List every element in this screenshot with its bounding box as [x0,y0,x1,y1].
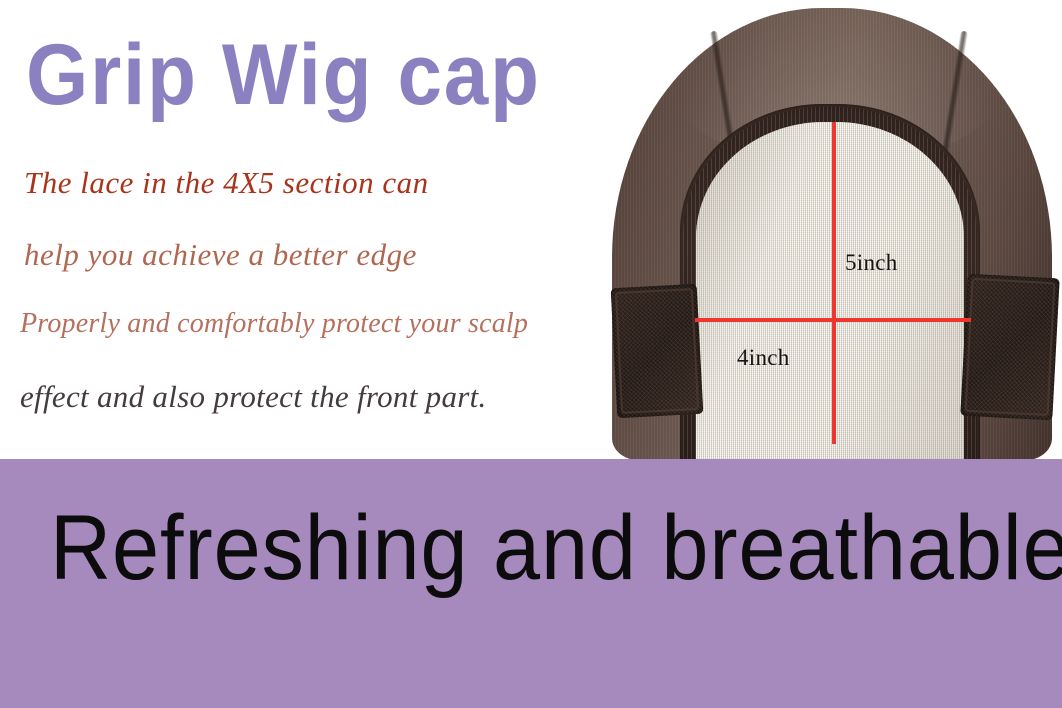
page-title: Grip Wig cap [26,32,541,118]
bottom-banner: Refreshing and breathable [0,459,1062,708]
description-line-4: effect and also protect the front part. [20,381,487,412]
description-line-2: help you achieve a better edge [24,239,417,270]
wig-cap-illustration: 5inch 4inch [596,0,1062,459]
description-line-3: Properly and comfortably protect your sc… [20,310,528,338]
copy-area: Grip Wig cap The lace in the 4X5 section… [0,0,640,459]
lace-shading [696,122,964,459]
product-marketing-image: Grip Wig cap The lace in the 4X5 section… [0,0,1062,708]
measurement-line-vertical [832,122,836,444]
measurement-label-width: 4inch [737,345,790,371]
velcro-strip-left [611,284,704,418]
velcro-strip-right [960,274,1059,421]
velcro-edge-left [615,288,699,414]
banner-tagline: Refreshing and breathable [50,502,1062,594]
lace-panel [696,122,964,459]
measurement-label-height: 5inch [845,250,898,276]
description-line-1: The lace in the 4X5 section can [24,167,429,198]
product-photo: 5inch 4inch [596,0,1062,459]
velcro-edge-right [965,278,1056,416]
measurement-line-horizontal [695,318,971,322]
